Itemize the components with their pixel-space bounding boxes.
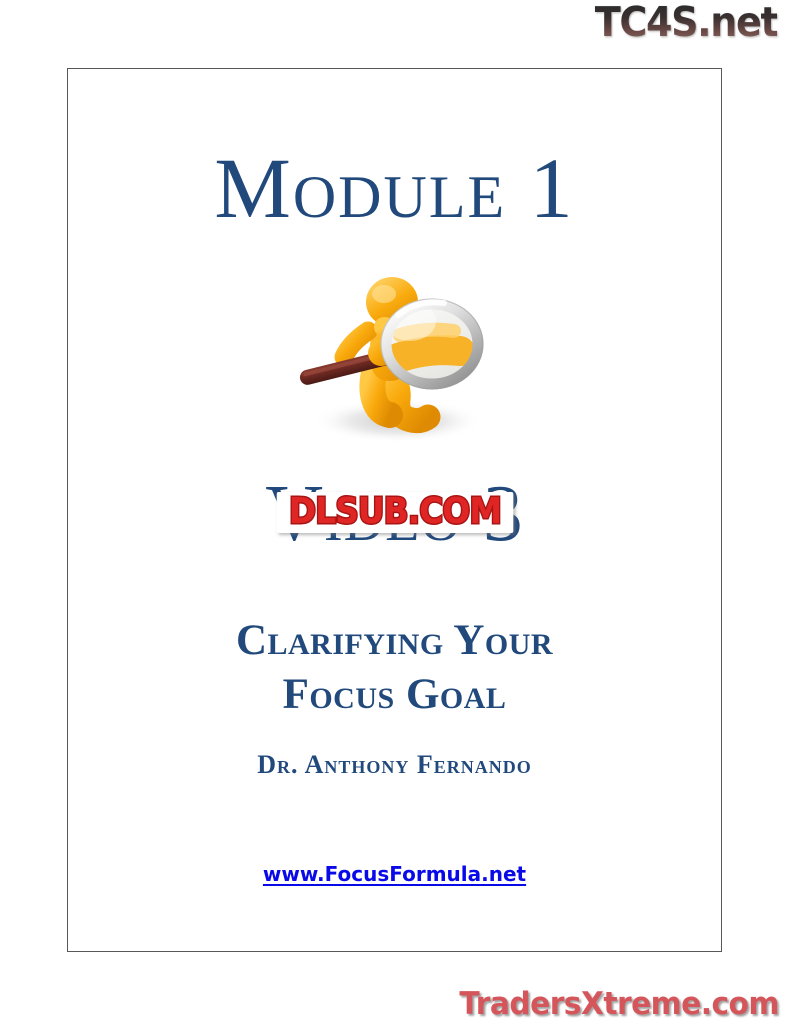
author-name: Dr. Anthony Fernando bbox=[68, 752, 721, 778]
module-title: Module 1 bbox=[68, 145, 721, 231]
video-title-container: Video 3 DLSUB.COM bbox=[68, 474, 721, 584]
website-link[interactable]: www.FocusFormula.net bbox=[263, 862, 526, 886]
watermark-center-band: DLSUB.COM bbox=[276, 492, 513, 533]
document-page: Module 1 bbox=[67, 68, 722, 952]
site-link-row: www.FocusFormula.net bbox=[68, 864, 721, 886]
subtitle-line-2: Focus Goal bbox=[68, 668, 721, 722]
page-content: Module 1 bbox=[68, 69, 721, 951]
magnifying-glass-person-icon bbox=[280, 269, 510, 449]
illustration-container bbox=[68, 269, 721, 449]
watermark-bottom-right: TradersXtreme.com bbox=[459, 989, 779, 1020]
subtitle: Clarifying Your Focus Goal bbox=[68, 614, 721, 722]
watermark-dlsub: DLSUB.COM bbox=[288, 494, 500, 531]
watermark-top-right: TC4S.net bbox=[594, 2, 777, 43]
subtitle-line-1: Clarifying Your bbox=[68, 614, 721, 668]
